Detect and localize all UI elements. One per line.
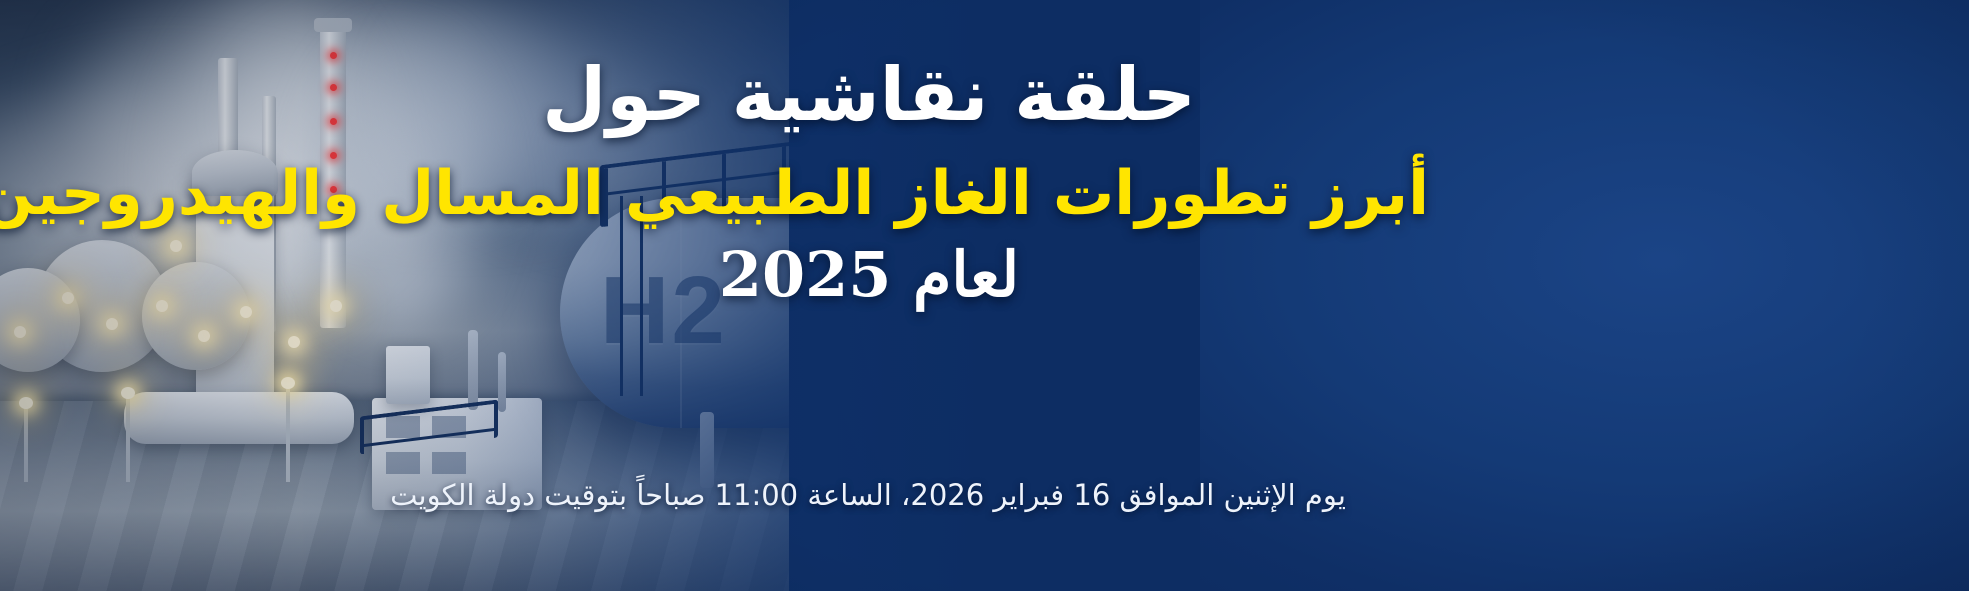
facility-light	[156, 300, 168, 312]
tower-dome	[192, 150, 278, 196]
facility-light	[14, 326, 26, 338]
light-pole	[286, 386, 290, 482]
facility-light	[288, 336, 300, 348]
facility-light	[170, 240, 182, 252]
light-pole	[24, 406, 28, 482]
facility-light	[240, 306, 252, 318]
spherical-storage-tank	[142, 262, 250, 370]
facility-light	[106, 318, 118, 330]
facility-light	[62, 292, 74, 304]
photo-to-blue-blend	[300, 0, 1200, 591]
event-banner: H2 حلقة نقاشية حول أبرز تطورات الغاز الط…	[0, 0, 1969, 591]
light-pole	[126, 396, 130, 482]
facility-light	[198, 330, 210, 342]
